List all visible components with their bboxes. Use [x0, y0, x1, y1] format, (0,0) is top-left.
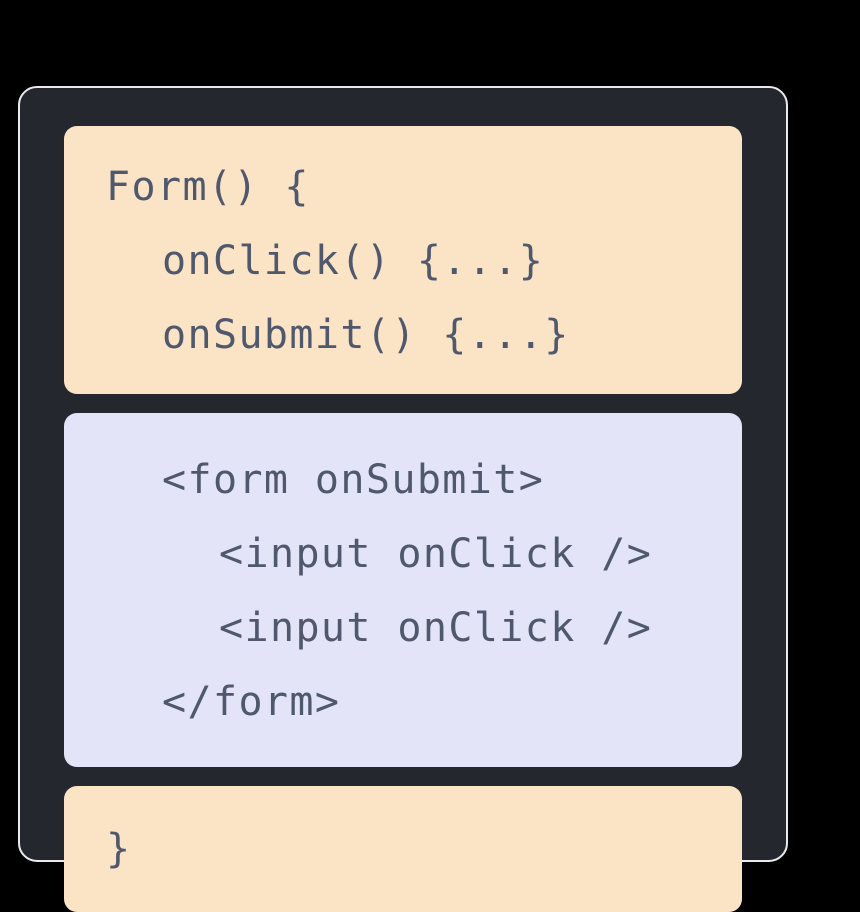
code-line: <input onClick /> — [64, 517, 742, 591]
code-line: <input onClick /> — [64, 591, 742, 665]
panel-markup-return: <form onSubmit> <input onClick /> <input… — [64, 413, 742, 767]
diagram-canvas: Form() { onClick() {...} onSubmit() {...… — [0, 0, 860, 874]
code-card: Form() { onClick() {...} onSubmit() {...… — [18, 86, 788, 862]
code-line: Form() { — [64, 150, 742, 224]
code-line: onClick() {...} — [64, 224, 742, 298]
code-line: onSubmit() {...} — [64, 298, 742, 372]
code-line: } — [64, 812, 742, 886]
panel-component-scope-close: } — [64, 786, 742, 912]
code-line: <form onSubmit> — [64, 443, 742, 517]
panel-component-scope-open: Form() { onClick() {...} onSubmit() {...… — [64, 126, 742, 394]
code-line: </form> — [64, 665, 742, 739]
